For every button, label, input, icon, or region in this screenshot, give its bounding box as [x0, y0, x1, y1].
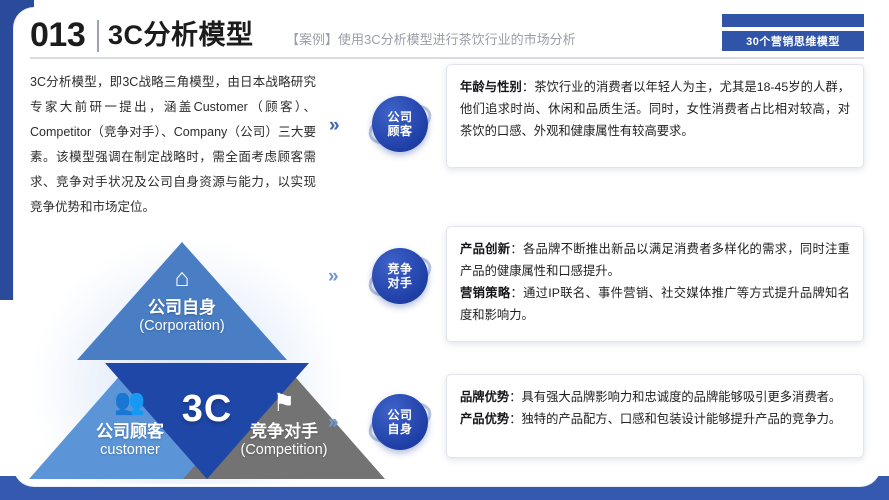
node-competitor-line1: 竞争	[387, 262, 412, 276]
card-line: 年龄与性别：茶饮行业的消费者以年轻人为主，尤其是18-45岁的人群，他们追求时尚…	[460, 76, 850, 142]
node-customer[interactable]: 公司 顾客	[372, 96, 428, 152]
page-title: 3C分析模型	[108, 17, 254, 53]
node-competitor-ball: 竞争 对手	[372, 248, 428, 304]
badge-accent-bar	[722, 14, 864, 27]
slide-number: 013	[30, 16, 85, 54]
chevron-right-icon-1: »	[329, 115, 340, 137]
header-divider-vertical	[97, 20, 99, 52]
triangle-label-corporation-cn: 公司自身	[77, 298, 287, 317]
triangle-label-center: 3C	[105, 388, 309, 431]
building-icon: ⌂	[77, 264, 287, 293]
slide-header: 013 3C分析模型 【案例】使用3C分析模型进行茶饮行业的市场分析 30个营销…	[14, 8, 880, 60]
badge-stack: 30个营销思维模型	[722, 14, 864, 51]
header-rule	[30, 57, 864, 59]
node-company-line2: 自身	[387, 422, 412, 436]
triangle-label-corporation: 公司自身 (Corporation)	[77, 298, 287, 334]
slide-canvas: 013 3C分析模型 【案例】使用3C分析模型进行茶饮行业的市场分析 30个营销…	[14, 8, 880, 486]
node-customer-line1: 公司	[387, 110, 412, 124]
node-company[interactable]: 公司 自身	[372, 394, 428, 450]
node-customer-ball: 公司 顾客	[372, 96, 428, 152]
card-text: ：通过IP联名、事件营销、社交媒体推广等方式提升品牌知名度和影响力。	[460, 286, 850, 322]
card-label: 产品创新	[460, 242, 510, 256]
card-line: 产品优势：独特的产品配方、口感和包装设计能够提升产品的竞争力。	[460, 408, 850, 430]
triangle-label-corporation-en: (Corporation)	[77, 318, 287, 334]
card-label: 营销策略	[460, 286, 510, 300]
chevron-right-icon-2: »	[328, 266, 339, 288]
page-subtitle: 【案例】使用3C分析模型进行茶饮行业的市场分析	[286, 30, 576, 50]
status-badge: 30个营销思维模型	[722, 31, 864, 51]
intro-paragraph: 3C分析模型，即3C战略三角模型，由日本战略研究专家大前研一提出，涵盖Custo…	[30, 70, 316, 220]
card-line: 品牌优势：具有强大品牌影响力和忠诚度的品牌能够吸引更多消费者。	[460, 386, 850, 408]
node-company-line1: 公司	[387, 408, 412, 422]
content-card-company: 品牌优势：具有强大品牌影响力和忠诚度的品牌能够吸引更多消费者。 产品优势：独特的…	[446, 374, 864, 458]
triangle-label-competition-en: (Competition)	[183, 442, 385, 458]
card-text: ：独特的产品配方、口感和包装设计能够提升产品的竞争力。	[509, 412, 841, 426]
three-c-triangle-diagram: ⌂ 👥 ⚑ 公司自身 (Corporation) 公司顾客 customer 竞…	[28, 236, 346, 484]
node-company-ball: 公司 自身	[372, 394, 428, 450]
card-label: 品牌优势	[460, 390, 509, 404]
node-competitor[interactable]: 竞争 对手	[372, 248, 428, 304]
triangle-center-text: 3C	[182, 388, 233, 430]
card-line: 产品创新：各品牌不断推出新品以满足消费者多样化的需求，同时注重产品的健康属性和口…	[460, 238, 850, 282]
chevron-right-icon-3: »	[328, 412, 339, 434]
node-customer-line2: 顾客	[387, 124, 412, 138]
card-line: 营销策略：通过IP联名、事件营销、社交媒体推广等方式提升品牌知名度和影响力。	[460, 282, 850, 326]
card-text: ：各品牌不断推出新品以满足消费者多样化的需求，同时注重产品的健康属性和口感提升。	[460, 242, 850, 278]
card-label: 年龄与性别	[460, 80, 522, 94]
card-text: ：具有强大品牌影响力和忠诚度的品牌能够吸引更多消费者。	[509, 390, 841, 404]
card-label: 产品优势	[460, 412, 509, 426]
node-competitor-line2: 对手	[387, 276, 412, 290]
content-card-competitor: 产品创新：各品牌不断推出新品以满足消费者多样化的需求，同时注重产品的健康属性和口…	[446, 226, 864, 342]
content-card-customer: 年龄与性别：茶饮行业的消费者以年轻人为主，尤其是18-45岁的人群，他们追求时尚…	[446, 64, 864, 168]
